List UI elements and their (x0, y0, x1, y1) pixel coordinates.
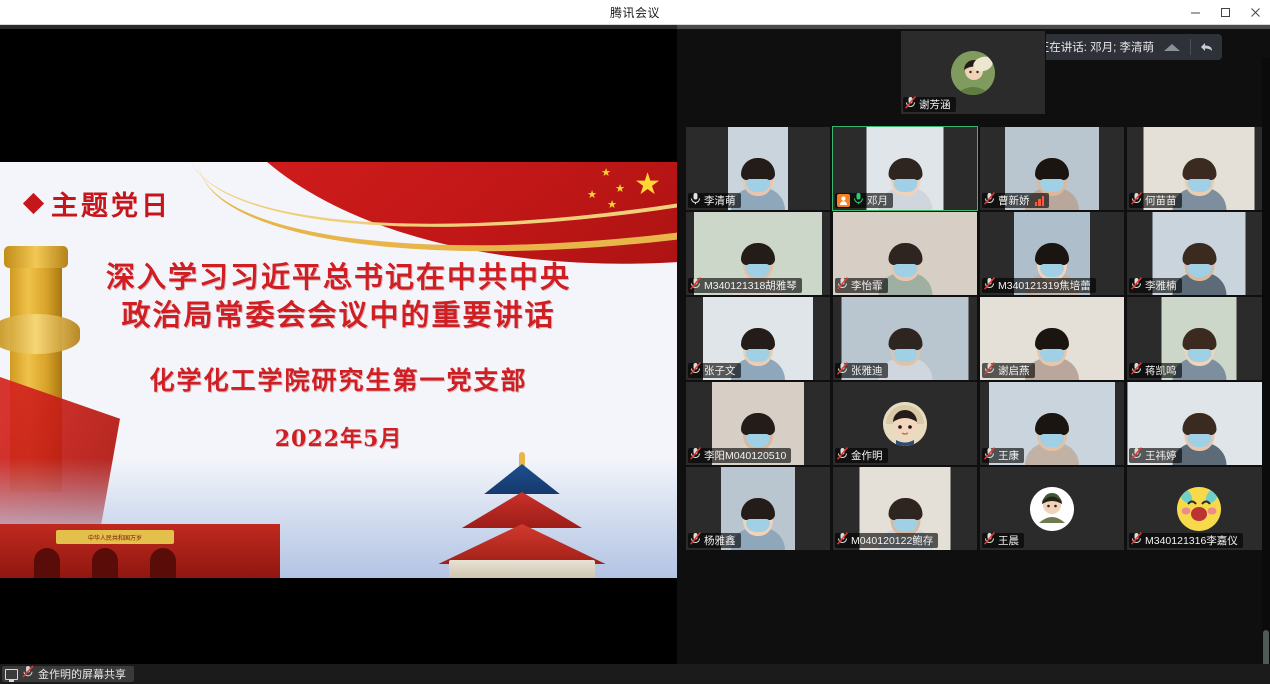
participant-mic-icon (1131, 362, 1142, 380)
participant-nametag: 张子文 (688, 363, 741, 378)
participant-name: 张雅迪 (851, 363, 883, 378)
participant-nametag: M340121319焦培蕾 (982, 278, 1096, 293)
participant-mic-icon (984, 192, 995, 210)
participant-name: M040120122鲍存 (851, 533, 933, 548)
participant-tile[interactable]: 王晨 (979, 466, 1125, 551)
participant-mic-icon (837, 277, 848, 295)
microphone-muted-icon (22, 665, 34, 683)
share-status-bar: 金作明的屏幕共享 (0, 664, 1270, 684)
participant-name: 王康 (998, 448, 1019, 463)
participant-mic-icon (837, 532, 848, 550)
participant-name: 邓月 (867, 193, 888, 208)
participant-name: 王晨 (998, 533, 1019, 548)
participant-mic-icon (1131, 277, 1142, 295)
temple-of-heaven-decoration (427, 458, 617, 578)
participant-mic-icon (837, 447, 848, 465)
participant-mic-icon (984, 532, 995, 550)
participant-tile[interactable]: 杨雅鑫 (685, 466, 831, 551)
participant-name: 李阳M040120510 (704, 448, 786, 463)
slide-header: 主题党日 (26, 184, 171, 223)
participant-mic-icon (853, 192, 864, 210)
participant-nametag: 谢启燕 (982, 363, 1035, 378)
participant-nametag: 王康 (982, 448, 1024, 463)
participant-row: 杨雅鑫M040120122鲍存王晨M340121316李嘉仪 (685, 466, 1270, 551)
title-bar: 腾讯会议 (0, 0, 1270, 25)
participant-nametag: 邓月 (835, 193, 893, 208)
video-gallery: 正在讲话: 邓月; 李清萌 李清萌邓月曹新娇何苗苗M340121318胡雅琴李怡… (677, 29, 1270, 684)
participant-nametag: 李清萌 (688, 193, 741, 208)
pikachu-avatar (1177, 487, 1221, 531)
slide-organization: 化学化工学院研究生第一党支部 (0, 364, 677, 398)
gate-plaque-text: 中华人民共和国万岁 (56, 530, 174, 544)
participant-tile[interactable]: 李怡霏 (832, 211, 978, 296)
window-title: 腾讯会议 (610, 4, 660, 21)
participant-nametag: 金作明 (835, 448, 888, 463)
shared-screen-area[interactable]: ★ ★ ★ ★ ★ 中华人民共和国万岁 主 (0, 29, 677, 684)
slide-date: 2022年5月 (0, 424, 677, 454)
participant-nametag: M040120122鲍存 (835, 533, 938, 548)
participant-row: M340121318胡雅琴李怡霏M340121319焦培蕾李雅楠 (685, 211, 1270, 296)
participant-name: 曹新娇 (998, 193, 1030, 208)
participant-nametag: M340121318胡雅琴 (688, 278, 802, 293)
participant-name: M340121318胡雅琴 (704, 278, 797, 293)
participant-name: 谢启燕 (998, 363, 1030, 378)
participant-tile[interactable]: 李阳M040120510 (685, 381, 831, 466)
participant-mic-icon (690, 192, 701, 210)
participant-tile[interactable]: 张雅迪 (832, 296, 978, 381)
participant-tile[interactable]: 曹新娇 (979, 126, 1125, 211)
participant-name: 金作明 (851, 448, 883, 463)
slide-body: 深入学习习近平总书记在中共中央 政治局常委会会议中的重要讲话 化学化工学院研究生… (0, 258, 677, 454)
participant-nametag: 曹新娇 (982, 193, 1049, 208)
participant-name: 谢芳涵 (919, 97, 951, 112)
maximize-button[interactable] (1210, 0, 1240, 25)
cartoon-girl-avatar (1030, 487, 1074, 531)
participant-row: 李阳M040120510金作明王康王祎婷 (685, 381, 1270, 466)
host-badge-icon (837, 194, 850, 207)
participant-mic-icon (984, 447, 995, 465)
participant-grid: 李清萌邓月曹新娇何苗苗M340121318胡雅琴李怡霏M340121319焦培蕾… (685, 126, 1270, 551)
participant-nametag: 蒋凯鸣 (1129, 363, 1182, 378)
participant-tile[interactable]: 王祎婷 (1126, 381, 1270, 466)
participant-nametag: 何苗苗 (1129, 193, 1182, 208)
participant-tile[interactable]: 蒋凯鸣 (1126, 296, 1270, 381)
diamond-bullet-icon (23, 193, 44, 214)
slide-title-line-2: 政治局常委会会议中的重要讲话 (0, 296, 677, 334)
participant-tile[interactable]: 张子文 (685, 296, 831, 381)
minimize-button[interactable] (1180, 0, 1210, 25)
participant-row: 张子文张雅迪谢启燕蒋凯鸣 (685, 296, 1270, 381)
window-controls (1180, 0, 1270, 25)
participant-nametag: 李阳M040120510 (688, 448, 791, 463)
participant-mic-icon (690, 532, 701, 550)
participant-row: 李清萌邓月曹新娇何苗苗 (685, 126, 1270, 211)
participant-mic-icon (1131, 532, 1142, 550)
tencent-meeting-window: 腾讯会议 ★ ★ ★ ★ ★ (0, 0, 1270, 684)
participant-name: 王祎婷 (1145, 448, 1177, 463)
presentation-slide: ★ ★ ★ ★ ★ 中华人民共和国万岁 主 (0, 162, 677, 578)
participant-nametag: 李怡霏 (835, 278, 888, 293)
participant-tile[interactable]: M040120122鲍存 (832, 466, 978, 551)
speaking-label: 正在讲话: 邓月; 李清萌 (1038, 39, 1154, 55)
close-button[interactable] (1240, 0, 1270, 25)
participant-nametag: 杨雅鑫 (688, 533, 741, 548)
participant-nametag: 王晨 (982, 533, 1024, 548)
participant-mic-icon (690, 447, 701, 465)
participant-name: M340121319焦培蕾 (998, 278, 1091, 293)
participant-tile[interactable]: 李雅楠 (1126, 211, 1270, 296)
participant-mic-icon (690, 362, 701, 380)
share-status-pill[interactable]: 金作明的屏幕共享 (2, 666, 134, 682)
gallery-scrollbar[interactable] (1262, 58, 1270, 684)
participant-name: 何苗苗 (1145, 193, 1177, 208)
participant-name: 李清萌 (704, 193, 736, 208)
participant-name: 张子文 (704, 363, 736, 378)
slide-title-line-1: 深入学习习近平总书记在中共中央 (0, 258, 677, 296)
participant-mic-icon (1131, 447, 1142, 465)
participant-name: 李怡霏 (851, 278, 883, 293)
participant-nametag: 张雅迪 (835, 363, 888, 378)
return-arrow-icon[interactable] (1196, 41, 1218, 53)
participant-tile[interactable]: 谢芳涵 (900, 30, 1046, 115)
participant-name: M340121316李嘉仪 (1145, 533, 1238, 548)
participant-tile[interactable]: 王康 (979, 381, 1125, 466)
participant-nametag: M340121316李嘉仪 (1129, 533, 1243, 548)
participant-mic-icon (690, 277, 701, 295)
participant-nametag: 李雅楠 (1129, 278, 1182, 293)
participant-tile[interactable]: 何苗苗 (1126, 126, 1270, 211)
participant-mic-icon (984, 362, 995, 380)
participant-nametag: 谢芳涵 (903, 97, 956, 112)
participant-tile[interactable]: M340121316李嘉仪 (1126, 466, 1270, 551)
participant-tile[interactable]: 李清萌 (685, 126, 831, 211)
participant-tile[interactable]: 谢启燕 (979, 296, 1125, 381)
participant-mic-icon (984, 277, 995, 295)
participant-mic-icon (1131, 192, 1142, 210)
slide-header-text: 主题党日 (51, 184, 171, 223)
participant-mic-icon (905, 96, 916, 114)
participant-name: 杨雅鑫 (704, 533, 736, 548)
participant-mic-icon (837, 362, 848, 380)
chevron-up-icon[interactable] (1159, 41, 1185, 53)
participant-tile[interactable]: 邓月 (832, 126, 978, 211)
signal-strength-icon (1035, 196, 1045, 206)
tiananmen-gate-decoration: 中华人民共和国万岁 (0, 524, 280, 578)
participant-nametag: 王祎婷 (1129, 448, 1182, 463)
share-status-label: 金作明的屏幕共享 (38, 666, 126, 682)
participant-name: 李雅楠 (1145, 278, 1177, 293)
participant-tile[interactable]: 金作明 (832, 381, 978, 466)
baby-photo-avatar (883, 402, 927, 446)
flag-stars-decoration: ★ ★ ★ ★ ★ (549, 166, 669, 226)
separator-2 (1190, 39, 1191, 55)
woman-photo-avatar (951, 51, 995, 95)
monitor-icon (5, 669, 18, 680)
participant-tile[interactable]: M340121318胡雅琴 (685, 211, 831, 296)
participant-tile[interactable]: M340121319焦培蕾 (979, 211, 1125, 296)
participant-name: 蒋凯鸣 (1145, 363, 1177, 378)
